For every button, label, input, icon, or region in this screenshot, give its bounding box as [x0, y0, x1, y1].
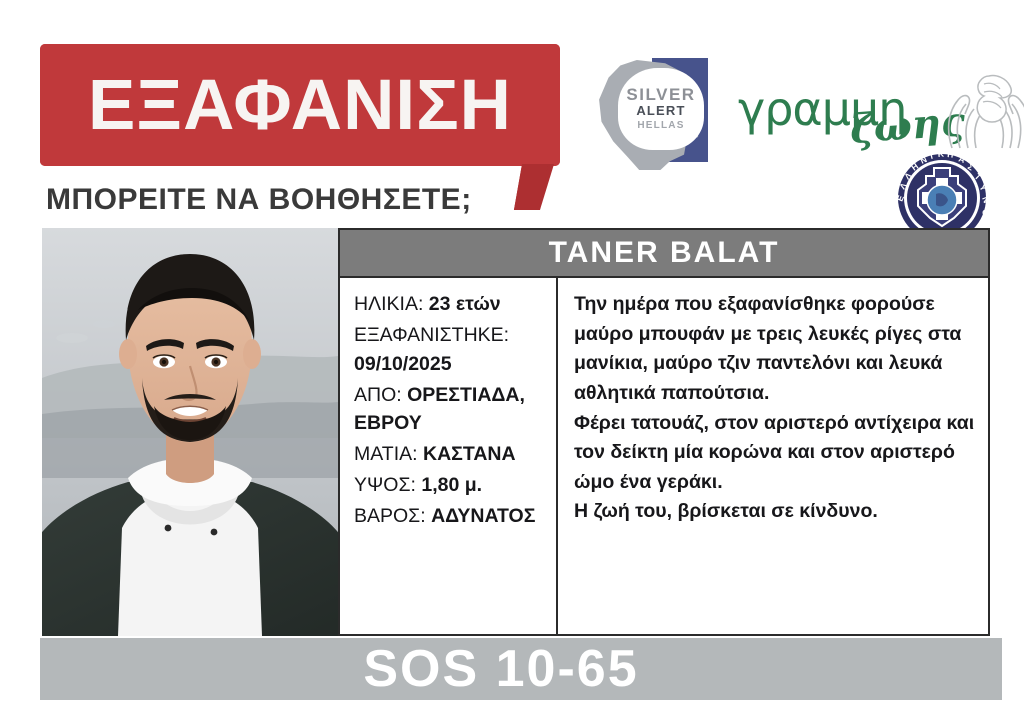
person-name-bar: TANER BALAT — [340, 230, 988, 278]
alert-banner: ΕΞΑΦΑΝΙΣΗ — [40, 44, 560, 166]
detail-value-weight: ΑΔΥΝΑΤΟΣ — [431, 505, 535, 527]
detail-value-eyes: ΚΑΣΤΑΝΑ — [423, 443, 516, 465]
silver-alert-line3: HELLAS — [637, 119, 684, 132]
detail-row-location: ΑΠΟ: ΟΡΕΣΤΙΑΔΑ, ΕΒΡΟΥ — [354, 381, 548, 439]
description-column: Την ημέρα που εξαφανίσθηκε φορούσε μαύρο… — [558, 278, 988, 636]
alert-subtitle: ΜΠΟΡΕΙΤΕ ΝΑ ΒΟΗΘΗΣΕΤΕ; — [46, 183, 472, 217]
silver-alert-line1: SILVER — [626, 86, 695, 103]
svg-text:Ο: Ο — [980, 208, 991, 217]
description-paragraph-clothing: Την ημέρα που εξαφανίσθηκε φορούσε μαύρο… — [574, 290, 976, 409]
detail-label-eyes: ΜΑΤΙΑ: — [354, 443, 418, 465]
missing-person-poster: ΕΞΑΦΑΝΙΣΗ ΜΠΟΡΕΙΤΕ ΝΑ ΒΟΗΘΗΣΕΤΕ; SILVER … — [0, 0, 1024, 723]
info-panel: TANER BALAT ΗΛΙΚΙΑ: 23 ετών ΕΞΑΦΑΝΙΣΤΗΚΕ… — [338, 228, 990, 636]
person-name: TANER BALAT — [549, 236, 780, 270]
logo-group: SILVER ALERT HELLAS γραμμη ζωης — [592, 50, 1004, 220]
detail-value-height: 1,80 μ. — [421, 474, 482, 496]
detail-row-age: ΗΛΙΚΙΑ: 23 ετών — [354, 290, 548, 319]
alert-banner-inner: ΕΞΑΦΑΝΙΣΗ — [40, 70, 560, 141]
grammi-zois-logo: γραμμη ζωης — [738, 76, 938, 146]
silver-alert-line2: ALERT — [636, 103, 685, 120]
detail-row-disappeared: ΕΞΑΦΑΝΙΣΤΗΚΕ: 09/10/2025 — [354, 321, 548, 379]
description-paragraph-danger: Η ζωή του, βρίσκεται σε κίνδυνο. — [574, 497, 976, 527]
detail-label-disappeared: ΕΞΑΦΑΝΙΣΤΗΚΕ: — [354, 324, 509, 346]
silver-alert-text-block: SILVER ALERT HELLAS — [618, 68, 704, 150]
detail-label-location: ΑΠΟ: — [354, 384, 402, 406]
detail-value-disappeared: 09/10/2025 — [354, 353, 452, 375]
missing-person-photo — [42, 228, 338, 636]
photo-illustration — [42, 228, 338, 636]
svg-text:Η: Η — [947, 150, 954, 160]
sos-hotline-number: SOS 10-65 — [363, 639, 678, 699]
description-paragraph-tattoos: Φέρει τατουάζ, στον αριστερό αντίχειρα κ… — [574, 409, 976, 498]
dove-and-hands-icon — [934, 68, 1024, 152]
silver-alert-logo: SILVER ALERT HELLAS — [592, 58, 722, 170]
detail-row-height: ΥΨΟΣ: 1,80 μ. — [354, 471, 548, 500]
detail-label-height: ΥΨΟΣ: — [354, 474, 416, 496]
detail-row-eyes: ΜΑΤΙΑ: ΚΑΣΤΑΝΑ — [354, 440, 548, 469]
detail-value-age: 23 ετών — [429, 293, 501, 315]
details-column: ΗΛΙΚΙΑ: 23 ετών ΕΞΑΦΑΝΙΣΤΗΚΕ: 09/10/2025… — [340, 278, 558, 636]
sos-footer-bar: SOS 10-65 — [40, 638, 1002, 700]
detail-label-age: ΗΛΙΚΙΑ: — [354, 293, 423, 315]
detail-row-weight: ΒΑΡΟΣ: ΑΔΥΝΑΤΟΣ — [354, 502, 548, 531]
panel-body: ΗΛΙΚΙΑ: 23 ετών ΕΞΑΦΑΝΙΣΤΗΚΕ: 09/10/2025… — [340, 278, 988, 636]
alert-banner-title: ΕΞΑΦΑΝΙΣΗ — [40, 70, 560, 141]
detail-label-weight: ΒΑΡΟΣ: — [354, 505, 426, 527]
